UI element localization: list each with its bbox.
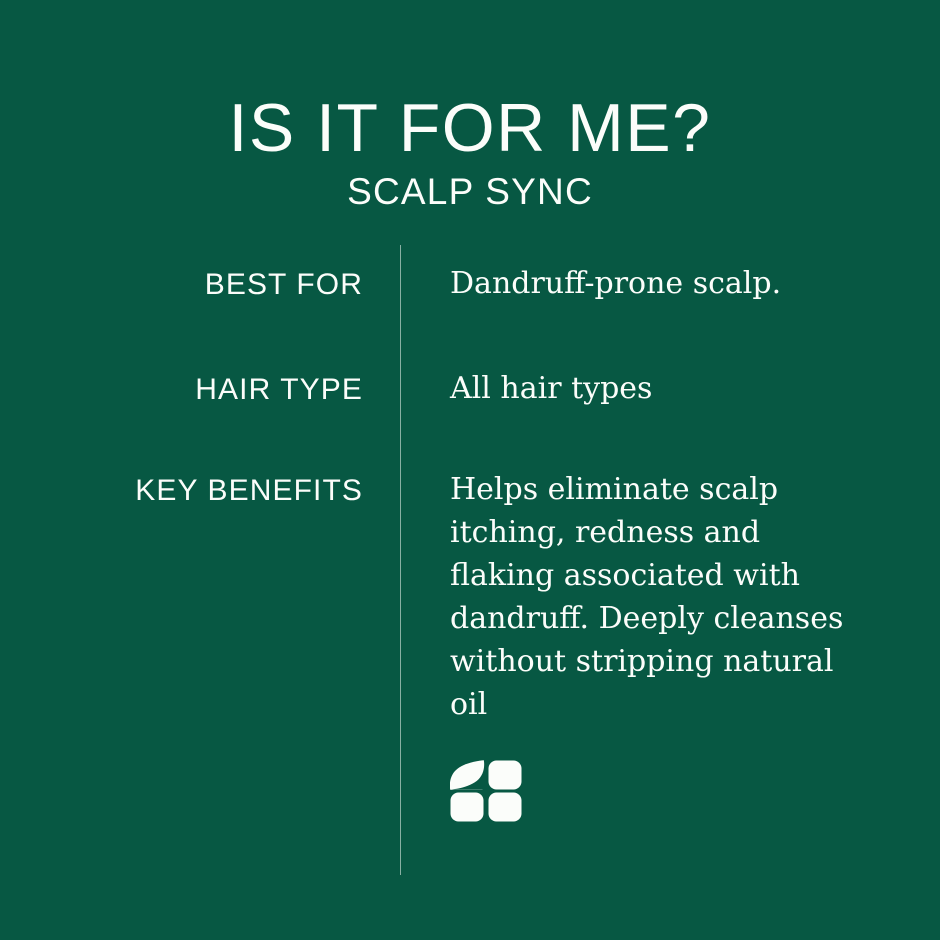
spec-value-hair-type: All hair types xyxy=(450,367,850,410)
spec-table: BEST FOR Dandruff-prone scalp. HAIR TYPE… xyxy=(0,262,940,726)
page-title: IS IT FOR ME? xyxy=(0,92,940,164)
page-subtitle: SCALP SYNC xyxy=(0,170,940,214)
product-info-card: IS IT FOR ME? SCALP SYNC BEST FOR Dandru… xyxy=(0,0,940,940)
spec-label-best-for: BEST FOR xyxy=(0,262,363,304)
spec-row: BEST FOR Dandruff-prone scalp. xyxy=(0,262,940,305)
leaf-quadrant-logo-icon xyxy=(450,760,522,822)
header: IS IT FOR ME? SCALP SYNC xyxy=(0,92,940,214)
spec-label-key-benefits: KEY BENEFITS xyxy=(0,468,363,510)
spec-label-hair-type: HAIR TYPE xyxy=(0,367,363,409)
spec-row: HAIR TYPE All hair types xyxy=(0,367,940,410)
spec-value-key-benefits: Helps eliminate scalp itching, redness a… xyxy=(450,468,850,726)
brand-logo xyxy=(450,760,522,822)
spec-row: KEY BENEFITS Helps eliminate scalp itchi… xyxy=(0,468,940,726)
spec-value-best-for: Dandruff-prone scalp. xyxy=(450,262,850,305)
